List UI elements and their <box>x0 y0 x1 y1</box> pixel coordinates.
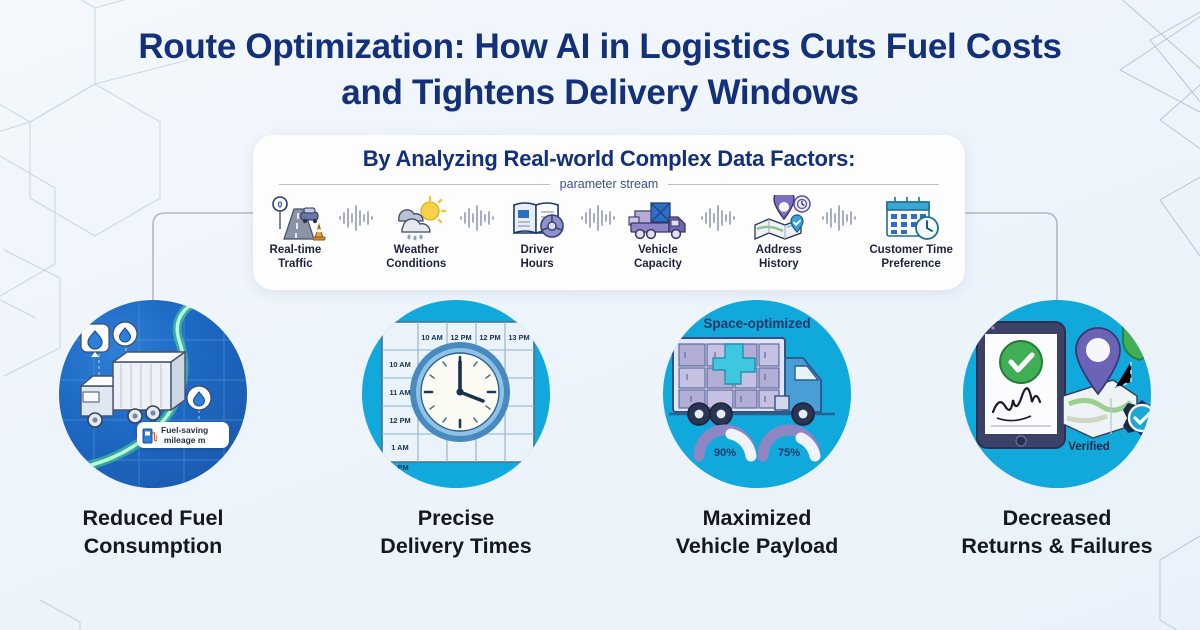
factor-label-line1: Real-time <box>270 244 322 256</box>
caption-line1: Decreased <box>1003 506 1112 530</box>
fuel-saving-chip-text: Fuel-saving mileage m <box>161 425 208 445</box>
caption-line2: Delivery Times <box>380 534 531 558</box>
outcome-circle-2: 10 AM 12 PM 12 PM 13 PM 10 AM 11 AM 12 P… <box>362 300 550 488</box>
outcome-circle-4: Verified <box>963 300 1151 488</box>
chip-line1: Fuel-saving <box>161 425 208 435</box>
factor-label-line2: History <box>759 258 799 270</box>
caption-line1: Maximized <box>703 506 812 530</box>
outcome-caption: Decreased Returns & Failures <box>907 504 1200 560</box>
outcome-caption: Reduced Fuel Consumption <box>3 504 303 560</box>
factor-label-line1: Vehicle <box>638 244 678 256</box>
row-head-0: 10 AM <box>389 360 411 369</box>
calendar-clock-icon <box>857 195 965 241</box>
factor-address-history: Address History <box>736 195 821 271</box>
waveform-separator-icon <box>338 195 374 241</box>
factor-label: Vehicle Capacity <box>616 244 701 271</box>
waveform-separator-icon <box>821 195 857 241</box>
outcome-caption: Precise Delivery Times <box>306 504 606 560</box>
outcome-circle-3: Space-optimized <box>663 300 851 488</box>
row-head-1: 11 AM <box>389 388 410 397</box>
caption-line2: Returns & Failures <box>961 534 1152 558</box>
waveform-separator-icon <box>580 195 616 241</box>
factor-list: 0 Real-time Traffic <box>253 195 965 271</box>
verified-label: Verified <box>1068 441 1110 453</box>
row-head-2: 12 PM <box>389 416 410 425</box>
outcome-precise-delivery-times: 10 AM 12 PM 12 PM 13 PM 10 AM 11 AM 12 P… <box>306 300 606 560</box>
title-line-2: and Tightens Delivery Windows <box>0 70 1200 116</box>
factor-label-line2: Capacity <box>634 258 682 270</box>
factor-label: Driver Hours <box>495 244 580 271</box>
gauge-value-0: 90% <box>714 447 736 459</box>
col-head-3: 13 PM <box>508 333 529 342</box>
factor-weather-conditions: Weather Conditions <box>374 195 459 271</box>
truck-cargo-icon <box>616 195 701 241</box>
caption-line2: Consumption <box>84 534 223 558</box>
waveform-separator-icon <box>459 195 495 241</box>
weather-cloud-sun-icon <box>374 195 459 241</box>
title-line-1: Route Optimization: How AI in Logistics … <box>0 24 1200 70</box>
fuel-saving-chip: Fuel-saving mileage m <box>137 422 229 448</box>
row-head-4: 2 PM <box>391 463 408 472</box>
factor-label-line2: Preference <box>881 258 940 270</box>
factor-driver-hours: Driver Hours <box>495 195 580 271</box>
driver-logbook-icon <box>495 195 580 241</box>
factor-label-line1: Weather <box>394 244 439 256</box>
factor-label-line2: Conditions <box>386 258 446 270</box>
caption-line1: Reduced Fuel <box>83 506 224 530</box>
factor-label-line1: Customer Time <box>869 244 953 256</box>
factor-label-line2: Hours <box>520 258 553 270</box>
outcome-maximized-vehicle-payload: Space-optimized <box>607 300 907 560</box>
truck-route-fuel-icon <box>59 300 247 488</box>
col-head-2: 12 PM <box>479 333 500 342</box>
loaded-truck-icon: Space-optimized <box>663 300 851 488</box>
divider-rule-right <box>668 184 939 185</box>
caption-line1: Precise <box>418 506 495 530</box>
parameter-stream-label: parameter stream <box>560 177 659 191</box>
card-heading: By Analyzing Real-world Complex Data Fac… <box>253 146 965 172</box>
caption-line2: Vehicle Payload <box>676 534 839 558</box>
data-factors-card: By Analyzing Real-world Complex Data Fac… <box>253 135 965 290</box>
factor-real-time-traffic: 0 Real-time Traffic <box>253 195 338 271</box>
schedule-clock-icon: 10 AM 12 PM 12 PM 13 PM 10 AM 11 AM 12 P… <box>362 300 550 488</box>
map-pin-history-icon <box>736 195 821 241</box>
parameter-stream-divider: parameter stream <box>279 177 939 191</box>
space-optimized-badge: Space-optimized <box>703 316 810 331</box>
factor-label: Customer Time Preference <box>857 244 965 271</box>
factor-label: Real-time Traffic <box>253 244 338 271</box>
tablet-signature-verified-icon: Verified <box>963 300 1151 488</box>
factor-label-line2: Traffic <box>278 258 313 270</box>
factor-label-line1: Address <box>756 244 802 256</box>
factor-vehicle-capacity: Vehicle Capacity <box>616 195 701 271</box>
gauge-value-1: 75% <box>778 447 800 459</box>
factor-label: Address History <box>736 244 821 271</box>
outcome-circle-1: Fuel-saving mileage m <box>59 300 247 488</box>
col-head-1: 12 PM <box>450 333 471 342</box>
divider-rule-left <box>279 184 550 185</box>
outcome-caption: Maximized Vehicle Payload <box>607 504 907 560</box>
page-title: Route Optimization: How AI in Logistics … <box>0 24 1200 116</box>
factor-label: Weather Conditions <box>374 244 459 271</box>
col-head-0: 10 AM <box>421 333 443 342</box>
traffic-road-icon: 0 <box>253 195 338 241</box>
outcome-decreased-returns-failures: Verified Decreased Returns & Failures <box>907 300 1200 560</box>
svg-text:0: 0 <box>278 201 283 210</box>
fuel-pump-icon <box>142 427 157 444</box>
factor-label-line1: Driver <box>520 244 553 256</box>
chip-line2: mileage m <box>164 435 206 445</box>
factor-customer-time-preference: Customer Time Preference <box>857 195 965 271</box>
waveform-separator-icon <box>700 195 736 241</box>
row-head-3: 1 AM <box>391 443 408 452</box>
outcome-reduced-fuel-consumption: Fuel-saving mileage m Reduced Fuel Consu… <box>3 300 303 560</box>
